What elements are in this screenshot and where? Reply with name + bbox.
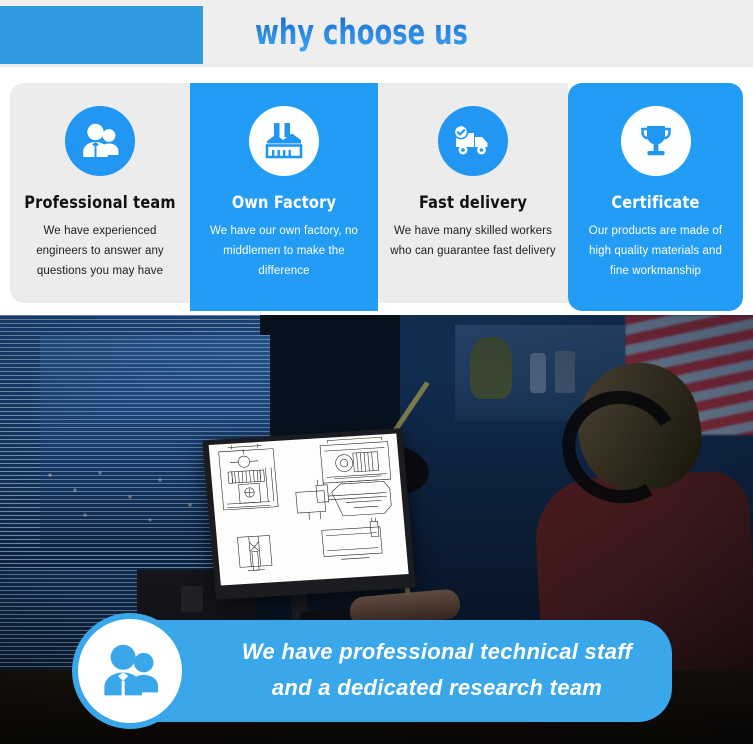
two-people-icon-wrap (65, 106, 135, 176)
card-title: Certificate (582, 193, 729, 213)
page-title: why choose us (255, 13, 501, 53)
card-description: We have our own factory, no middlemen to… (200, 221, 368, 281)
delivery-truck-icon-wrap (438, 106, 508, 176)
header-accent-block (0, 6, 203, 64)
card-description: We have experienced engineers to answer … (20, 221, 180, 281)
trophy-icon (636, 121, 676, 161)
card-title: Professional team (24, 193, 176, 213)
feature-cards: Professional team We have experienced en… (0, 67, 753, 315)
shelf-object (470, 337, 512, 399)
trophy-icon-wrap (621, 106, 691, 176)
computer-monitor (202, 428, 416, 600)
feature-card-own-factory[interactable]: Own Factory We have our own factory, no … (190, 83, 378, 311)
banner-text: We have professional technical staff and… (217, 634, 657, 706)
banner-line-1: We have professional technical staff (217, 634, 657, 670)
feature-card-certificate[interactable]: Certificate Our products are made of hig… (568, 83, 743, 311)
cad-drawing (209, 434, 409, 586)
banner-badge (72, 613, 188, 729)
banner-line-2: and a dedicated research team (217, 670, 657, 706)
two-people-icon (80, 122, 120, 160)
why-choose-us-page: why choose us Professional team We have … (0, 0, 753, 744)
factory-icon (263, 121, 305, 161)
feature-card-professional-team[interactable]: Professional team We have experienced en… (10, 83, 190, 303)
speaker-tweeter (181, 586, 203, 612)
factory-icon-wrap (249, 106, 319, 176)
card-title: Fast delivery (392, 193, 554, 213)
card-description: We have many skilled workers who can gua… (388, 221, 558, 261)
card-description: Our products are made of high quality ma… (578, 221, 733, 281)
page-header: why choose us (0, 0, 753, 67)
monitor-screen (209, 434, 409, 586)
card-title: Own Factory (204, 193, 364, 213)
two-people-icon (97, 642, 163, 700)
feature-card-fast-delivery[interactable]: Fast delivery We have many skilled worke… (378, 83, 568, 303)
delivery-truck-icon (452, 124, 494, 158)
